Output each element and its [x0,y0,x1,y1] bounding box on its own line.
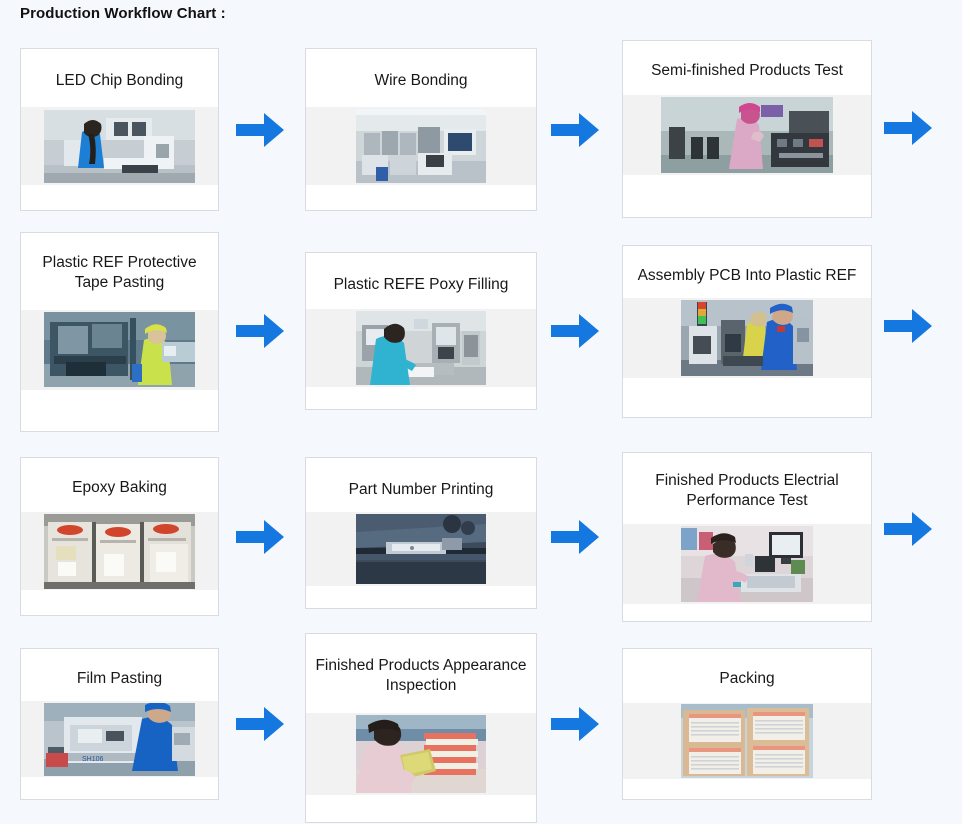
workflow-step-card[interactable]: Assembly PCB Into Plastic REF [622,245,872,418]
step-media-band [623,298,871,378]
step-media-band [21,512,218,590]
step-media-band [306,107,536,185]
led-chip-bonding-photo [44,110,195,183]
right-arrow-icon [549,704,601,744]
workflow-step-card[interactable]: Packing [622,648,872,800]
step-label: Semi-finished Products Test [623,61,871,81]
finished-products-electrial-test-photo [681,526,813,602]
step-label: Film Pasting [21,669,218,689]
film-pasting-photo: SH106 [44,703,195,776]
step-label: Epoxy Baking [21,478,218,498]
right-arrow-icon [549,517,601,557]
step-media-band [623,95,871,175]
plastic-refe-poxy-filling-photo [356,311,486,385]
step-label: Plastic REFE Poxy Filling [306,275,536,295]
semi-finished-products-test-photo [661,97,833,173]
workflow-step-card[interactable]: Finished Products Appearance Inspection [305,633,537,823]
step-label: Finished Products Electrial Performance … [623,471,871,512]
workflow-step-card[interactable]: Wire Bonding [305,48,537,211]
plastic-ref-protective-tape-photo [44,312,195,387]
workflow-step-card[interactable]: Finished Products Electrial Performance … [622,452,872,622]
workflow-step-card[interactable]: Semi-finished Products Test [622,40,872,218]
step-label: Packing [623,669,871,689]
workflow-step-card[interactable]: Part Number Printing [305,457,537,609]
assembly-pcb-into-plastic-ref-photo [681,300,813,376]
step-label: Wire Bonding [306,71,536,91]
right-arrow-icon [549,311,601,351]
part-number-printing-photo [356,514,486,584]
step-label: Part Number Printing [306,480,536,500]
packing-photo [681,704,813,778]
right-arrow-icon [234,110,286,150]
step-media-band [306,512,536,586]
right-arrow-icon [234,704,286,744]
finished-products-appearance-photo [356,715,486,793]
step-label: Finished Products Appearance Inspection [306,656,536,697]
step-label: Assembly PCB Into Plastic REF [623,266,871,286]
step-label: Plastic REF Protective Tape Pasting [21,253,218,294]
step-media-band [306,713,536,795]
right-arrow-icon [549,110,601,150]
svg-text:SH106: SH106 [82,756,104,763]
right-arrow-icon [882,509,934,549]
step-media-band [623,703,871,779]
right-arrow-icon [234,517,286,557]
step-media-band [306,309,536,387]
step-media-band [21,107,218,185]
right-arrow-icon [882,306,934,346]
workflow-step-card[interactable]: LED Chip Bonding [20,48,219,211]
right-arrow-icon [882,108,934,148]
step-media-band [21,310,218,390]
step-media-band [623,524,871,604]
workflow-step-card[interactable]: Plastic REFE Poxy Filling [305,252,537,410]
workflow-step-card[interactable]: Epoxy Baking [20,457,219,616]
production-workflow-chart: LED Chip Bonding [0,0,962,824]
step-media-band: SH106 [21,701,218,777]
step-label: LED Chip Bonding [21,71,218,91]
epoxy-baking-photo [44,514,195,589]
workflow-step-card[interactable]: Film Pasting SH106 [20,648,219,800]
workflow-step-card[interactable]: Plastic REF Protective Tape Pasting [20,232,219,432]
wire-bonding-photo [356,109,486,183]
right-arrow-icon [234,311,286,351]
